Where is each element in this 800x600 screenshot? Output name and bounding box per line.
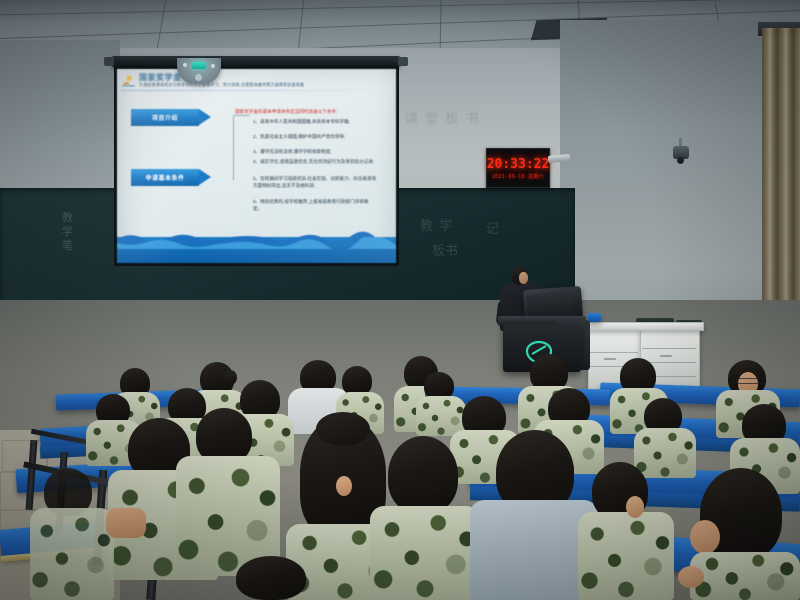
window-curtain xyxy=(762,28,800,328)
cabinet-counter xyxy=(586,322,704,331)
slide-item-3: 3、遵守宪法和法律,遵守学校规章制度; xyxy=(253,149,377,156)
wall-camera-icon xyxy=(673,146,689,159)
slide-subtitle: 为激励普通高校全日制本专科学生勤奋学习、努力进取,在德智体美劳等方面得到全面发展 xyxy=(139,82,304,88)
slide-red-heading: 国家奖学金的基本申请条件应当同时具备以下条件: xyxy=(235,109,337,115)
fixture-indicator-icon xyxy=(192,62,206,69)
cabinet-handle-2[interactable] xyxy=(660,355,672,357)
student-hand-3 xyxy=(678,566,704,588)
screen-mount-right xyxy=(398,57,408,66)
podium-monitor-screen[interactable] xyxy=(526,291,571,316)
led-wall-clock: 20:33:22 2021-09-18 星期六 xyxy=(486,148,550,188)
blue-object-on-cabinet xyxy=(588,313,601,322)
projected-slide: 国家奖学金 为激励普通高校全日制本专科学生勤奋学习、努力进取,在德智体美劳等方面… xyxy=(117,69,396,263)
cabinet-seam-1 xyxy=(590,352,638,353)
screen-mount-left xyxy=(104,57,114,66)
cabinet-seam-3 xyxy=(642,348,696,349)
student-hand-2 xyxy=(626,496,644,518)
slide-item-2: 2、热爱社会主义祖国,拥护中国共产党的领导; xyxy=(253,134,377,141)
presenter-face xyxy=(519,272,528,284)
slide-item-4: 4、诚实守信,道德品质优良,无任何违纪行为及受到处分记录; xyxy=(253,159,377,166)
slide-section-2: 申请基本条件 xyxy=(131,169,199,186)
slide-wave-2 xyxy=(117,237,396,249)
wall-chalk-writing-2: ∕ ∕ ∕ xyxy=(418,128,439,140)
chalk-text-right: 记 xyxy=(486,218,499,237)
fixture-dot-left xyxy=(183,63,187,67)
slide-section-1-label: 项目介绍 xyxy=(131,109,199,126)
fixture-dot-right xyxy=(211,64,215,68)
slide-section-2-label: 申请基本条件 xyxy=(131,169,199,186)
chalk-text-center-2: 板书 xyxy=(432,240,458,259)
chalk-text-left: 教 学 笔 xyxy=(62,212,74,253)
slide-item-1: 1、具有中华人民共和国国籍,并具有本专科学籍; xyxy=(253,119,377,126)
clock-time: 20:33:22 xyxy=(487,157,550,172)
cabinet-handle-1[interactable] xyxy=(604,358,616,360)
chalk-text-center: 教 学 xyxy=(420,215,453,234)
slide-item-5: 5、在校期间学习成绩优异,社会实践、创新能力、综合素质等方面特别突出,且无不及格… xyxy=(253,176,377,189)
slide-connector xyxy=(233,115,250,180)
slide-section-1: 项目介绍 xyxy=(131,109,199,126)
student-hand-1 xyxy=(336,476,352,496)
fixture-dot-center xyxy=(195,74,202,81)
student-arm-1 xyxy=(106,508,146,538)
clock-date: 2021-09-18 星期六 xyxy=(492,173,544,180)
wall-chalk-writing: 课 堂 板 书 xyxy=(405,108,481,127)
slide-logo-icon xyxy=(121,74,136,88)
student-glasses-icon xyxy=(736,378,764,384)
slide-item-6: 6、特别优秀的,经学校推荐,上报省级教育行政部门评审确定。 xyxy=(253,199,377,212)
slide-divider xyxy=(121,90,391,91)
classroom-scene: 课 堂 板 书 ∕ ∕ ∕ 教 学 笔 教 学 板书 记 国家奖学金 为激励普通… xyxy=(0,0,800,600)
